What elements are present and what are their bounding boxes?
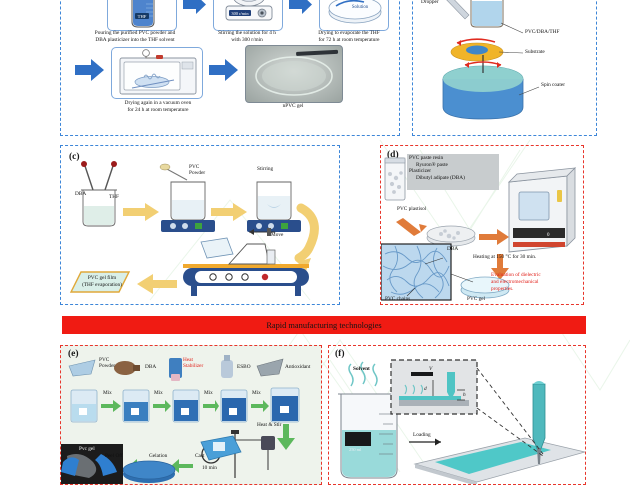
panel-d-plastisol-label: PVC plastisol <box>397 206 426 212</box>
panel-a-card-stirrer: 300 r/min <box>213 0 283 31</box>
thf-beaker-icon: THF <box>108 0 178 32</box>
panel-e-heat-stir-label: Heat & Stir <box>257 422 281 428</box>
panel-a-step3-line2: for 72 h at room temperature <box>299 37 399 44</box>
panel-e-ingredient-0-line2: Powder <box>99 363 115 369</box>
panel-e-mix-0: Mix <box>103 390 112 396</box>
tape-casting-machine <box>183 228 309 296</box>
panel-a-card-solution: Solution <box>319 0 389 31</box>
panel-e-gelation-label: Gelation <box>149 453 167 459</box>
figure-root: THF 300 r/min <box>0 0 630 472</box>
panel-c-hotplate-1 <box>160 164 215 232</box>
panel-d-box-line3: Plasticizer <box>409 168 465 175</box>
panel-e-ingredient-1: DBA <box>145 364 156 370</box>
panel-a-step4-line2: for 24 h at room temperature <box>103 107 213 114</box>
panel-e-ingredient-2: Heat Stabilizer <box>183 357 203 369</box>
panel-d-heating-label: Heating at 150 °C for 30 min. <box>473 254 536 260</box>
petri-dish-icon: Solution <box>320 0 390 32</box>
panel-d-gel-label: PVC gel <box>467 296 485 302</box>
panel-d-box-line2: Ryuron® paste <box>409 162 465 169</box>
svg-text:300 r/min: 300 r/min <box>231 11 249 16</box>
panel-c-stirring-label: Stirring <box>257 166 273 172</box>
panel-c-film-line2: (THF evaporation) <box>63 282 141 289</box>
panel-c-film-line1: PVC gel film <box>63 275 141 282</box>
panel-b-spin-coater-label: Spin coater <box>541 82 565 88</box>
panel-c-arrow-1 <box>123 203 159 221</box>
svg-text:Solution: Solution <box>352 5 369 10</box>
banner-label: Rapid manufacturing technologies <box>266 321 381 330</box>
panel-c-dba-label: DBA <box>75 191 86 197</box>
panel-f-inset-v-label: V <box>429 366 432 372</box>
panel-e-mix-3: Mix <box>252 390 261 396</box>
panel-d-composition-box: PVC paste resin Ryuron® paste Plasticize… <box>409 155 465 181</box>
beaker-icon <box>469 0 505 27</box>
panel-f-inset-d-label: d <box>424 386 427 392</box>
panel-a-solvent-casting: THF 300 r/min <box>60 0 400 136</box>
svg-text:THF: THF <box>138 14 147 19</box>
panel-e-cast-label: Cast <box>195 453 204 459</box>
panel-a-step4-caption: Drying again in a vacuum oven for 24 h a… <box>103 100 213 114</box>
panel-e-ingredient-4: Antioxidant <box>285 364 310 370</box>
panel-e-ingredient-3: ESBO <box>237 364 251 370</box>
panel-f-solvent-label: Solvent <box>353 366 370 372</box>
panel-a-step2-line2: with 300 r/min <box>197 37 297 44</box>
panel-b-solution-label: PVC/DBA/THF <box>525 29 559 35</box>
panel-e-timer-label: 10 min <box>202 465 217 471</box>
panel-d-box-line4: Dibutyl adipate (DBA) <box>409 175 465 182</box>
panel-e-mix-2: Mix <box>204 390 213 396</box>
oven-icon: 0 <box>509 168 575 252</box>
panel-c-arrow-2 <box>211 203 247 221</box>
panel-b-substrate-label: Substrate <box>525 49 545 55</box>
substrate-icon <box>451 39 503 61</box>
panel-e-ingredient-2-line2: Stabilizer <box>183 363 203 369</box>
panel-c-move-label: Move <box>271 232 283 238</box>
panel-e-mix-1: Mix <box>154 390 163 396</box>
panel-c-thf-label: THF <box>109 194 119 200</box>
gelation-dish-icon <box>123 461 175 483</box>
spin-coater-icon <box>443 55 523 119</box>
panel-a-arrow-4 <box>209 59 239 85</box>
panel-a-step1-caption: Pouring the purified PVC powder and DBA … <box>75 30 195 44</box>
panel-a-arrow-2 <box>289 0 313 17</box>
panel-f-inset-h-label: h <box>463 392 466 398</box>
panel-d-eval-line1: Evaluation of dielectric <box>491 272 541 279</box>
panel-c-arrow-curve <box>299 208 314 258</box>
panel-f-direct-ink-writing: (f) <box>328 345 586 485</box>
panel-d-evaluation-note: Evaluation of dielectric and electromech… <box>491 272 541 293</box>
panel-d-box-line1: PVC paste resin <box>409 155 465 162</box>
panel-a-arrow-3 <box>75 59 105 85</box>
panel-e-peel-off-label: Peel Off <box>105 453 123 459</box>
panel-a-product-label: nPVC gel <box>245 103 341 110</box>
pvc-chains-micrograph <box>381 244 451 300</box>
panel-a-step4-line1: Drying again in a vacuum oven <box>103 100 213 107</box>
panel-a-card-beaker: THF <box>107 0 177 31</box>
panel-f-inset <box>391 360 477 414</box>
panel-a-npvc-gel-photo <box>245 45 343 103</box>
resin-jar-icon <box>385 158 405 200</box>
panel-e-product-label: Pvc gel <box>79 446 95 452</box>
plastisol-dish <box>427 226 475 246</box>
panel-a-step2-caption: Stirring the solution for 4 h with 300 r… <box>197 30 297 44</box>
panel-a-card-vacuum-oven <box>111 47 203 99</box>
panel-c-pvc-powder-label: PVC Powder <box>189 164 205 177</box>
panel-c-tape-casting: (c) <box>60 145 340 305</box>
panel-b-dropper-label: Dropper <box>421 0 439 5</box>
panel-a-step1-line2: DBA plasticizer into the THF solvent <box>75 37 195 44</box>
panel-b-spin-coating: Dropper Beaker PVC/DBA/THF Substrate Spi… <box>412 0 597 136</box>
panel-b-diagram <box>413 0 596 135</box>
panel-d-chains-label: PVC chains <box>385 296 410 302</box>
dropper-icon <box>436 0 470 19</box>
pipette-icons <box>81 161 117 190</box>
panel-d-eval-line3: properties. <box>491 286 541 293</box>
magnetic-stirrer-icon: 300 r/min <box>214 0 284 32</box>
panel-d-dba-label: DBA <box>447 246 458 252</box>
panel-d-plastisol-heating: (d) <box>380 145 584 305</box>
panel-f-loading-label: Loading <box>413 432 431 438</box>
panel-a-step3-line1: Drying to evaporate the THF <box>299 30 399 37</box>
rapid-manufacturing-banner: Rapid manufacturing technologies <box>62 316 586 334</box>
panel-a-arrow-1 <box>183 0 207 17</box>
panel-a-step1-line1: Pouring the purified PVC powder and <box>75 30 195 37</box>
panel-d-eval-line2: and electromechanical <box>491 279 541 286</box>
panel-c-hotplate-2 <box>247 182 301 232</box>
panel-e-ingredient-0: PVC Powder <box>99 357 115 369</box>
vacuum-oven-icon <box>112 48 204 100</box>
panel-f-beaker-volume: 250 ml <box>349 447 361 452</box>
panel-c-film-label: PVC gel film (THF evaporation) <box>63 275 141 289</box>
panel-a-step2-line1: Stirring the solution for 4 h <box>197 30 297 37</box>
panel-e-plastisol-mixing: (e) <box>60 345 322 485</box>
panel-a-step3-caption: Drying to evaporate the THF for 72 h at … <box>299 30 399 44</box>
panel-c-pvc-powder-line2: Powder <box>189 170 205 176</box>
panel-c-arrow-3 <box>137 274 177 294</box>
substrate-plate <box>415 438 585 484</box>
